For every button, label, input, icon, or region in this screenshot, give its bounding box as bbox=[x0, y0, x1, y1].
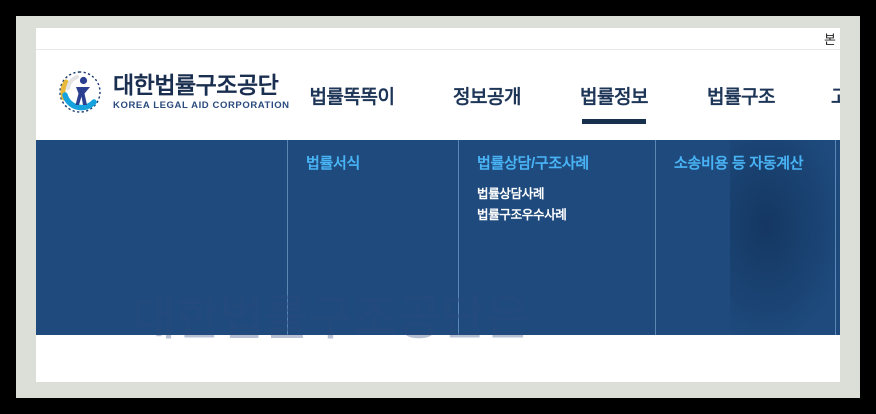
nav-active-underline bbox=[582, 119, 646, 124]
nav-item-2[interactable]: 법률정보 bbox=[559, 50, 669, 140]
mega-menu-column-2: 법률상담/구조사례법률상담사례법률구조우수사례 bbox=[458, 140, 655, 335]
nav-item-0[interactable]: 법률똑똑이 bbox=[292, 50, 412, 140]
mega-menu-subitem[interactable]: 법률상담사례 bbox=[477, 184, 567, 205]
site-header: 대한법률구조공단 KOREA LEGAL AID CORPORATION 법률똑… bbox=[36, 50, 840, 140]
brand-text: 대한법률구조공단 KOREA LEGAL AID CORPORATION bbox=[113, 74, 290, 111]
nav-item-label: 정보공개 bbox=[453, 82, 521, 109]
nav-item-3[interactable]: 법률구조 bbox=[686, 50, 796, 140]
brand-subtitle: KOREA LEGAL AID CORPORATION bbox=[113, 101, 290, 111]
nav-item-label: 법률똑똑이 bbox=[310, 82, 395, 109]
nav-item-4[interactable]: 고객 bbox=[813, 50, 840, 140]
nav-item-label: 법률구조 bbox=[707, 82, 775, 109]
mega-menu-column-0 bbox=[36, 140, 287, 335]
mega-menu-sublist: 법률상담사례법률구조우수사례 bbox=[477, 184, 567, 226]
mega-menu-column-title[interactable]: 소송비용 등 자동계산 bbox=[674, 152, 803, 173]
mega-menu-column-title[interactable]: 법률상담/구조사례 bbox=[477, 152, 589, 173]
nav-item-1[interactable]: 정보공개 bbox=[432, 50, 542, 140]
browser-page-viewport: 본 대한법률구조공단 KOREA LEGAL AID CO bbox=[36, 28, 840, 382]
mega-dropdown-panel: 법률서식법률상담/구조사례법률상담사례법률구조우수사례소송비용 등 자동계산 bbox=[36, 140, 840, 335]
mega-menu-subitem[interactable]: 법률구조우수사례 bbox=[477, 205, 567, 226]
mega-menu-column-4 bbox=[835, 140, 840, 335]
korea-legal-aid-circular-emblem-icon bbox=[56, 68, 104, 116]
utility-bar: 본 bbox=[36, 28, 840, 50]
mega-menu-column-title[interactable]: 법률서식 bbox=[306, 152, 360, 173]
nav-item-label: 고객 bbox=[831, 82, 840, 109]
brand-title: 대한법률구조공단 bbox=[113, 74, 290, 97]
utility-bar-label[interactable]: 본 bbox=[824, 29, 836, 48]
site-logo[interactable]: 대한법률구조공단 KOREA LEGAL AID CORPORATION bbox=[56, 68, 290, 116]
mega-menu-column-1: 법률서식 bbox=[287, 140, 458, 335]
hero-headline-line1: 대한법률구조공단은 bbox=[132, 335, 530, 346]
mega-menu-column-3: 소송비용 등 자동계산 bbox=[655, 140, 835, 335]
nav-item-label: 법률정보 bbox=[580, 82, 648, 109]
screenshot-root: 본 대한법률구조공단 KOREA LEGAL AID CO bbox=[0, 0, 876, 414]
hero-section: 대한법률구조공단은 bbox=[36, 335, 840, 382]
